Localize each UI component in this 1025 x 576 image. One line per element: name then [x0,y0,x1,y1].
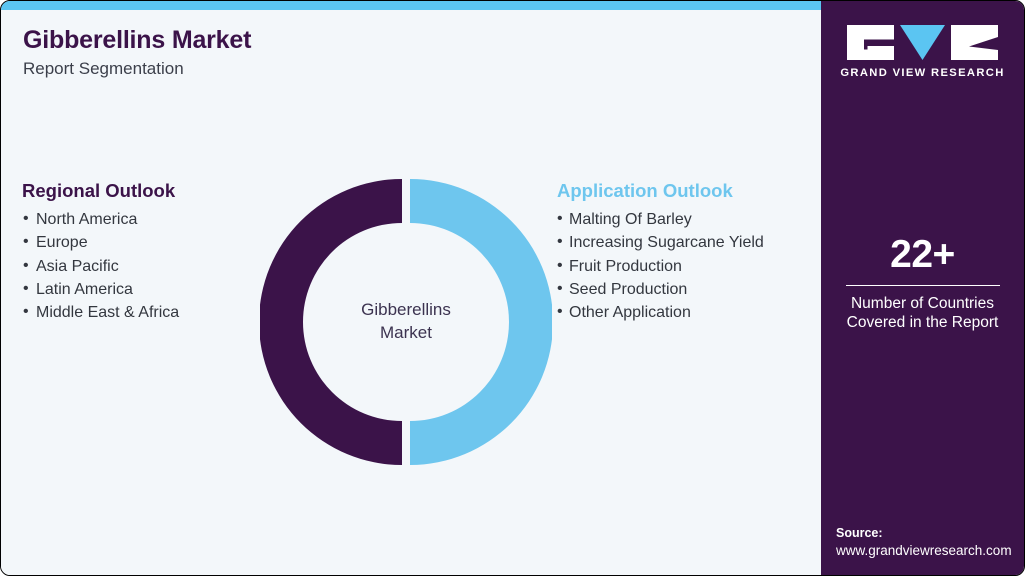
brand-logo: GRAND VIEW RESEARCH [821,25,1024,79]
stat-label-line-1: Number of Countries [821,294,1024,313]
source-block: Source: www.grandviewresearch.com [836,525,1012,560]
page-title: Gibberellins Market [23,26,251,55]
list-item: Middle East & Africa [22,301,254,324]
list-item: Malting Of Barley [557,208,819,231]
segment-heading-regional: Regional Outlook [22,180,254,202]
sidebar-panel: GRAND VIEW RESEARCH 22+ Number of Countr… [821,1,1024,576]
segment-list-application: Malting Of Barley Increasing Sugarcane Y… [557,208,819,324]
stat-value: 22+ [821,235,1024,274]
list-item: Asia Pacific [22,255,254,278]
main-content-area: Gibberellins Market Report Segmentation … [1,10,823,576]
segment-list-regional: North America Europe Asia Pacific Latin … [22,208,254,324]
page-subtitle: Report Segmentation [23,59,251,79]
logo-v-triangle-icon [900,25,945,60]
list-item: Increasing Sugarcane Yield [557,231,819,254]
list-item: Latin America [22,278,254,301]
title-block: Gibberellins Market Report Segmentation [23,26,251,79]
list-item: Europe [22,231,254,254]
stat-block: 22+ Number of Countries Covered in the R… [821,235,1024,333]
segment-application-outlook: Application Outlook Malting Of Barley In… [557,180,819,324]
stat-label-line-2: Covered in the Report [821,313,1024,332]
list-item: Seed Production [557,278,819,301]
logo-marks [847,25,998,60]
logo-r-icon [951,25,998,60]
donut-chart-svg [260,176,552,468]
logo-wordmark: GRAND VIEW RESEARCH [840,67,1004,79]
list-item: North America [22,208,254,231]
donut-chart: Gibberellins Market [260,176,552,468]
donut-slice-regional [260,179,402,465]
segment-regional-outlook: Regional Outlook North America Europe As… [22,180,254,324]
source-url[interactable]: www.grandviewresearch.com [836,542,1012,560]
donut-slice-application [410,179,552,465]
list-item: Fruit Production [557,255,819,278]
stat-divider [846,285,1000,286]
top-accent-bar [1,1,823,10]
list-item: Other Application [557,301,819,324]
source-label: Source: [836,525,1012,542]
infographic-canvas: Gibberellins Market Report Segmentation … [0,0,1025,576]
logo-g-icon [847,25,894,60]
segment-heading-application: Application Outlook [557,180,819,202]
